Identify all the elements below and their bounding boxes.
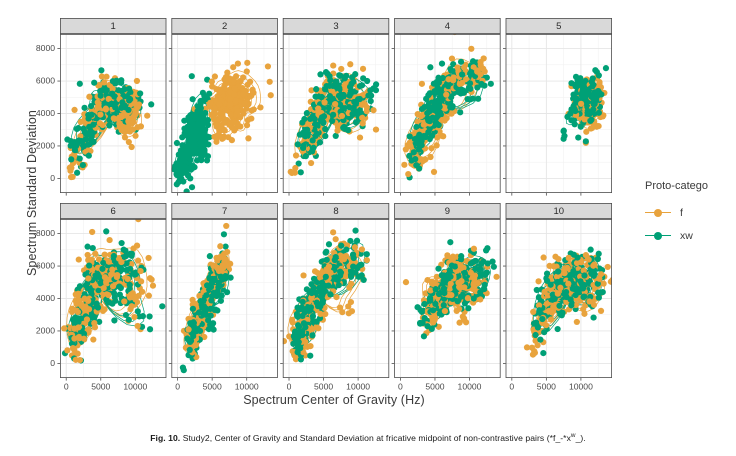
caption-figure-number: Fig. 10.: [150, 433, 180, 443]
legend-swatch-f: [645, 206, 671, 220]
legend-label-f: f: [680, 207, 683, 219]
figure-caption: Fig. 10. Study2, Center of Gravity and S…: [0, 432, 736, 443]
facet-plot: [0, 0, 736, 420]
legend-title: Proto-catego: [645, 180, 736, 192]
legend-item-xw[interactable]: xw: [645, 226, 736, 245]
legend-item-f[interactable]: f: [645, 203, 736, 222]
figure-container: Spectrum Standard Deviation Spectrum Cen…: [0, 0, 736, 456]
legend-label-xw: xw: [680, 230, 693, 242]
legend-swatch-xw: [645, 229, 671, 243]
caption-tail: _).: [576, 433, 586, 443]
scatter-plot-canvas: [0, 0, 736, 420]
legend-items: fxw: [645, 203, 736, 245]
caption-text: Study2, Center of Gravity and Standard D…: [183, 433, 571, 443]
x-axis-title: Spectrum Center of Gravity (Hz): [56, 393, 612, 407]
y-axis-title: Spectrum Standard Deviation: [25, 63, 39, 323]
legend: Proto-catego fxw: [645, 180, 736, 249]
